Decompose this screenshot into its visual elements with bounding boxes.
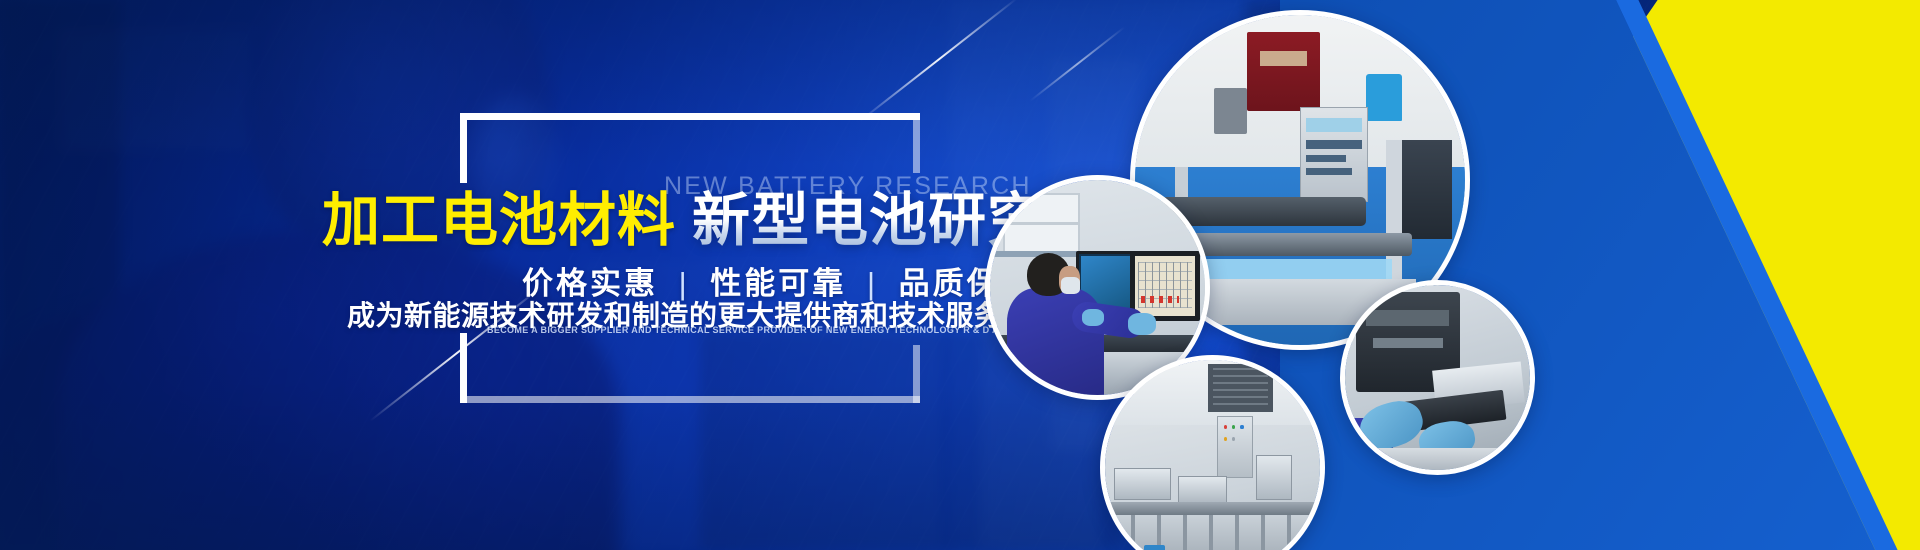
banner-headline: 加工电池材料新型电池研究 xyxy=(322,192,1046,250)
photo-circle-battery-press xyxy=(1340,280,1535,475)
photo-circle-equipment-rows xyxy=(1100,355,1325,550)
hero-banner: NEW BATTERY RESEARCH 加工电池材料新型电池研究 价格实惠 |… xyxy=(0,0,1920,550)
photo-equipment-rows xyxy=(1105,360,1320,550)
photo-battery-press-hands xyxy=(1345,285,1530,470)
headline-highlight: 加工电池材料 xyxy=(322,188,676,253)
